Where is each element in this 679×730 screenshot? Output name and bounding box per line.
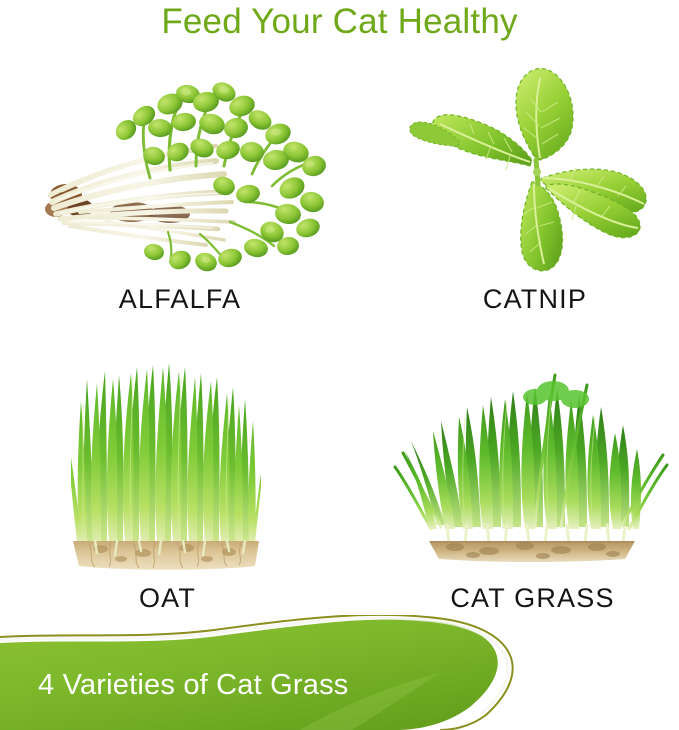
product-cell-oat: OAT — [45, 345, 290, 625]
product-infographic: Feed Your Cat Healthy — [0, 0, 679, 730]
oat-grass-photo — [45, 345, 290, 580]
cat-grass-photo — [385, 345, 679, 580]
product-cell-catnip: CATNIP — [400, 62, 670, 327]
alfalfa-sprouts-photo — [20, 62, 340, 282]
product-label-alfalfa: ALFALFA — [20, 284, 340, 315]
page-title: Feed Your Cat Healthy — [0, 2, 679, 42]
product-cell-alfalfa: ALFALFA — [20, 62, 340, 327]
catnip-leaves-photo — [400, 62, 670, 282]
banner-caption: 4 Varieties of Cat Grass — [38, 669, 349, 702]
product-label-oat: OAT — [45, 583, 290, 614]
catgrass-soil-base — [429, 541, 635, 562]
product-label-catnip: CATNIP — [400, 284, 670, 315]
catnip-center-stem — [533, 160, 541, 184]
catnip-leaf-top — [516, 69, 573, 160]
bottom-banner: 4 Varieties of Cat Grass — [0, 615, 679, 730]
product-label-catgrass: CAT GRASS — [385, 583, 679, 614]
product-cell-catgrass: CAT GRASS — [385, 345, 679, 625]
oat-root-mat — [73, 541, 259, 570]
